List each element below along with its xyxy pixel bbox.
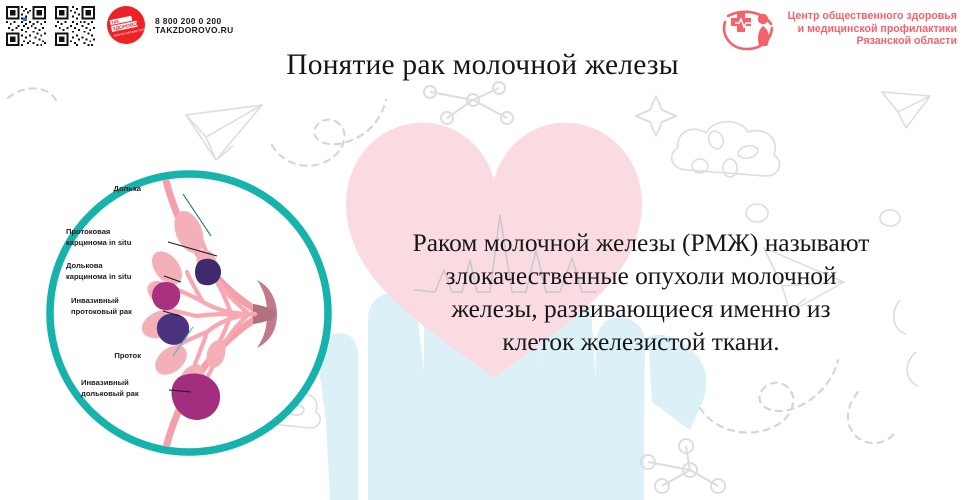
diagram-label-dcis-line1: Протоковая — [66, 227, 110, 236]
qr-code-left-icon — [6, 6, 46, 46]
health-center-name: Центр общественного здоровья и медицинск… — [788, 10, 957, 48]
health-center-line-2: и медицинской профилактики — [788, 23, 957, 36]
takzdorovo-logo: ТАК ЗДОРОВО ВСЕРОССИЙСКИЙ ПОРТАЛ 8 800 2… — [104, 5, 234, 47]
body-line-4: клеток железистой ткани. — [333, 326, 949, 359]
diagram-label-lobule: Долька — [114, 184, 142, 193]
health-center-line-3: Рязанской области — [788, 35, 957, 48]
tumor-dcis — [195, 259, 221, 286]
diagram-label-lcis-line2: карцинома in situ — [66, 272, 132, 281]
paper-plane-doodle — [186, 105, 262, 160]
body-paragraph: Раком молочной железы (РМЖ) называют зло… — [333, 227, 949, 359]
diagram-label-duct: Проток — [114, 351, 141, 360]
diagram-label-invasive-ductal-line1: Инвазивный — [71, 296, 119, 305]
diagram-label-invasive-lobular-line2: дольковый рак — [81, 389, 139, 398]
health-center-emblem-icon — [719, 6, 781, 52]
body-line-2: злокачественные опухоли молочной — [333, 260, 949, 293]
takzdorovo-site: TAKZDOROVO.RU — [155, 26, 234, 35]
breast-anatomy-diagram: Долька Протоковая карцинома in situ Доль… — [41, 164, 341, 462]
diagram-label-dcis-line2: карцинома in situ — [66, 238, 132, 247]
page-title: Понятие рак молочной железы — [0, 49, 965, 82]
sparkle-doodle — [636, 96, 676, 136]
qr-code-right-icon — [55, 6, 95, 46]
diagram-label-invasive-ductal-line2: протоковый рак — [71, 307, 132, 316]
body-line-3: железы, развивающиеся именно из — [333, 293, 949, 326]
header-left-logos: ТАК ЗДОРОВО ВСЕРОССИЙСКИЙ ПОРТАЛ 8 800 2… — [6, 5, 234, 47]
health-center-line-1: Центр общественного здоровья — [788, 10, 957, 23]
takzdorovo-logo-icon: ТАК ЗДОРОВО ВСЕРОССИЙСКИЙ ПОРТАЛ — [104, 5, 148, 47]
header-right-logo: Центр общественного здоровья и медицинск… — [719, 6, 957, 52]
sparkle-doodle — [746, 204, 900, 226]
diagram-label-invasive-lobular-line1: Инвазивный — [81, 378, 129, 387]
molecule-doodle — [641, 439, 725, 493]
slide-root: ТАК ЗДОРОВО ВСЕРОССИЙСКИЙ ПОРТАЛ 8 800 2… — [0, 0, 965, 500]
body-line-1: Раком молочной железы (РМЖ) называют — [333, 227, 949, 260]
diagram-label-lcis-line1: Долькова — [66, 261, 103, 270]
paper-plane-doodle — [882, 92, 930, 128]
cloud-doodle — [672, 122, 780, 177]
molecule-doodle — [424, 82, 513, 124]
